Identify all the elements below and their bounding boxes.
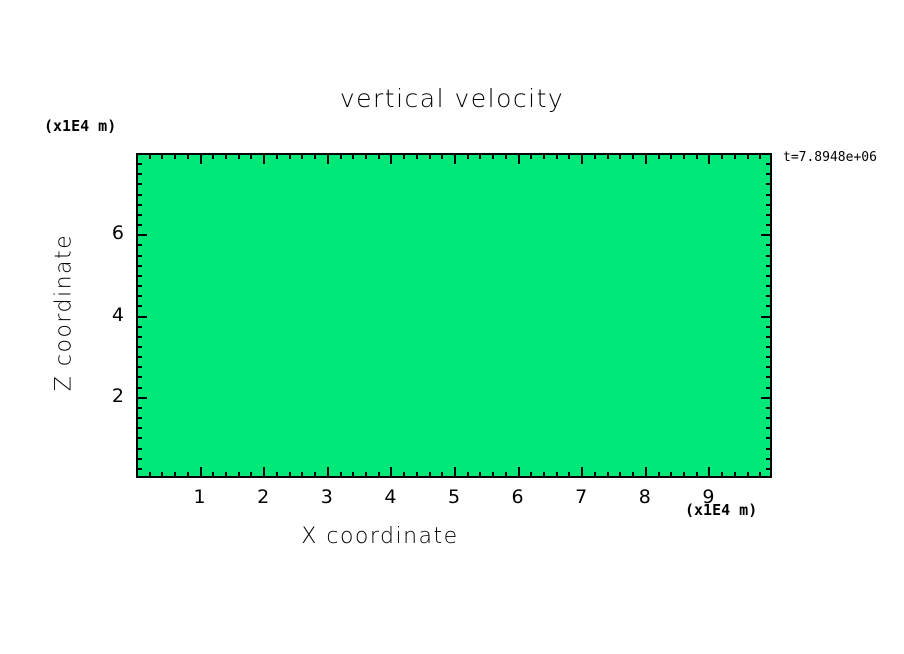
- x-tick-label: 7: [566, 486, 596, 508]
- x-tick-minor: [352, 472, 354, 478]
- y-tick-minor-right: [766, 356, 772, 358]
- y-tick-minor-right: [766, 214, 772, 216]
- x-tick-minor: [174, 472, 176, 478]
- y-tick-minor-right: [766, 163, 772, 165]
- x-tick-label: 1: [185, 486, 215, 508]
- y-tick-minor-right: [766, 295, 772, 297]
- x-tick-minor-top: [492, 153, 494, 159]
- x-tick-major-top: [263, 153, 265, 164]
- y-tick-minor: [136, 275, 142, 277]
- x-tick-minor-top: [238, 153, 240, 159]
- y-tick-minor-right: [766, 427, 772, 429]
- x-tick-major: [581, 467, 583, 478]
- x-tick-minor-top: [174, 153, 176, 159]
- x-tick-minor-top: [365, 153, 367, 159]
- y-tick-minor: [136, 265, 142, 267]
- x-tick-minor: [747, 472, 749, 478]
- y-tick-minor: [136, 305, 142, 307]
- x-axis-title: X coordinate: [0, 524, 760, 549]
- x-tick-minor: [734, 472, 736, 478]
- x-tick-minor: [149, 472, 151, 478]
- x-tick-minor-top: [441, 153, 443, 159]
- x-tick-minor: [467, 472, 469, 478]
- x-tick-minor-top: [149, 153, 151, 159]
- x-tick-minor: [696, 472, 698, 478]
- y-tick-major: [136, 234, 147, 236]
- x-tick-minor-top: [314, 153, 316, 159]
- y-tick-minor-right: [766, 173, 772, 175]
- y-axis-title: Z coordinate: [52, 213, 77, 413]
- x-tick-minor-top: [340, 153, 342, 159]
- x-tick-minor-top: [276, 153, 278, 159]
- y-tick-minor: [136, 427, 142, 429]
- x-tick-minor: [543, 472, 545, 478]
- x-tick-minor-top: [759, 153, 761, 159]
- y-tick-minor-right: [766, 244, 772, 246]
- y-tick-minor: [136, 244, 142, 246]
- x-tick-label: 2: [248, 486, 278, 508]
- x-tick-minor: [479, 472, 481, 478]
- x-tick-minor-top: [289, 153, 291, 159]
- y-tick-minor: [136, 366, 142, 368]
- x-tick-label: 5: [439, 486, 469, 508]
- x-tick-minor: [505, 472, 507, 478]
- x-tick-minor: [403, 472, 405, 478]
- x-tick-minor-top: [403, 153, 405, 159]
- x-tick-minor: [492, 472, 494, 478]
- x-tick-minor: [416, 472, 418, 478]
- x-tick-minor-top: [212, 153, 214, 159]
- y-tick-minor-right: [766, 204, 772, 206]
- x-tick-minor-top: [161, 153, 163, 159]
- y-tick-minor: [136, 285, 142, 287]
- x-tick-minor: [683, 472, 685, 478]
- x-tick-major-top: [327, 153, 329, 164]
- x-tick-minor: [212, 472, 214, 478]
- x-tick-minor: [441, 472, 443, 478]
- x-tick-minor: [632, 472, 634, 478]
- y-tick-minor-right: [766, 417, 772, 419]
- y-tick-minor: [136, 255, 142, 257]
- x-tick-minor-top: [658, 153, 660, 159]
- x-tick-minor: [568, 472, 570, 478]
- x-tick-minor-top: [683, 153, 685, 159]
- x-tick-minor-top: [594, 153, 596, 159]
- y-tick-minor-right: [766, 224, 772, 226]
- x-tick-minor: [238, 472, 240, 478]
- y-tick-minor: [136, 173, 142, 175]
- x-tick-major: [518, 467, 520, 478]
- y-tick-minor-right: [766, 387, 772, 389]
- y-tick-minor: [136, 417, 142, 419]
- y-tick-minor-right: [766, 285, 772, 287]
- y-tick-minor-right: [766, 407, 772, 409]
- x-tick-minor: [530, 472, 532, 478]
- x-tick-label: 4: [375, 486, 405, 508]
- x-tick-major: [200, 467, 202, 478]
- x-tick-major: [454, 467, 456, 478]
- x-tick-minor: [670, 472, 672, 478]
- y-tick-minor-right: [766, 255, 772, 257]
- y-tick-minor: [136, 407, 142, 409]
- y-tick-major-right: [761, 234, 772, 236]
- y-tick-label: 4: [94, 304, 124, 326]
- x-tick-major: [263, 467, 265, 478]
- y-tick-major-right: [761, 397, 772, 399]
- x-tick-major: [390, 467, 392, 478]
- y-tick-minor: [136, 204, 142, 206]
- y-tick-minor: [136, 468, 142, 470]
- y-tick-label: 6: [94, 222, 124, 244]
- y-tick-minor: [136, 437, 142, 439]
- x-tick-minor-top: [416, 153, 418, 159]
- x-tick-minor-top: [607, 153, 609, 159]
- x-tick-minor: [556, 472, 558, 478]
- y-tick-minor-right: [766, 366, 772, 368]
- x-tick-minor: [365, 472, 367, 478]
- x-tick-minor-top: [479, 153, 481, 159]
- y-tick-minor: [136, 214, 142, 216]
- x-tick-minor: [225, 472, 227, 478]
- y-tick-minor: [136, 336, 142, 338]
- y-tick-minor: [136, 346, 142, 348]
- x-tick-minor: [429, 472, 431, 478]
- x-tick-label: 9: [693, 486, 723, 508]
- x-tick-major: [645, 467, 647, 478]
- x-tick-major-top: [708, 153, 710, 164]
- x-tick-minor: [301, 472, 303, 478]
- x-tick-minor: [607, 472, 609, 478]
- y-tick-minor: [136, 448, 142, 450]
- y-tick-minor-right: [766, 376, 772, 378]
- y-tick-minor: [136, 224, 142, 226]
- y-tick-minor-right: [766, 346, 772, 348]
- y-tick-minor: [136, 194, 142, 196]
- x-tick-major: [327, 467, 329, 478]
- x-tick-minor: [594, 472, 596, 478]
- x-tick-minor: [759, 472, 761, 478]
- x-tick-minor: [289, 472, 291, 478]
- y-tick-minor-right: [766, 183, 772, 185]
- y-tick-minor-right: [766, 336, 772, 338]
- x-tick-minor-top: [747, 153, 749, 159]
- y-tick-major-right: [761, 316, 772, 318]
- x-tick-minor-top: [543, 153, 545, 159]
- x-tick-minor-top: [225, 153, 227, 159]
- x-tick-minor: [187, 472, 189, 478]
- x-tick-minor-top: [505, 153, 507, 159]
- y-tick-minor: [136, 387, 142, 389]
- y-tick-label: 2: [94, 385, 124, 407]
- y-tick-minor: [136, 356, 142, 358]
- colorbar: [775, 188, 821, 508]
- x-tick-minor-top: [301, 153, 303, 159]
- x-tick-major-top: [518, 153, 520, 164]
- x-tick-minor-top: [556, 153, 558, 159]
- x-tick-minor-top: [530, 153, 532, 159]
- figure-root: vertical velocity (x1E4 m) (x1E4 m) t=7.…: [0, 0, 904, 654]
- y-tick-minor-right: [766, 468, 772, 470]
- y-tick-minor-right: [766, 448, 772, 450]
- x-tick-minor-top: [378, 153, 380, 159]
- y-tick-minor: [136, 326, 142, 328]
- x-tick-label: 6: [503, 486, 533, 508]
- x-tick-minor: [276, 472, 278, 478]
- x-tick-major-top: [390, 153, 392, 164]
- contour-field-canvas: [138, 155, 772, 478]
- x-tick-minor-top: [568, 153, 570, 159]
- y-tick-minor-right: [766, 194, 772, 196]
- y-tick-minor: [136, 163, 142, 165]
- x-tick-minor: [314, 472, 316, 478]
- x-tick-major-top: [645, 153, 647, 164]
- x-tick-minor-top: [187, 153, 189, 159]
- x-tick-minor: [340, 472, 342, 478]
- y-tick-minor-right: [766, 305, 772, 307]
- timestamp-annotation: t=7.8948e+06: [783, 150, 877, 165]
- x-tick-minor-top: [632, 153, 634, 159]
- x-tick-minor: [250, 472, 252, 478]
- y-tick-minor: [136, 376, 142, 378]
- y-tick-minor-right: [766, 437, 772, 439]
- x-tick-minor-top: [352, 153, 354, 159]
- colorbar-gradient: [775, 188, 821, 508]
- y-tick-minor-right: [766, 265, 772, 267]
- y-axis-unit-label: (x1E4 m): [44, 117, 116, 135]
- x-tick-major-top: [454, 153, 456, 164]
- x-tick-label: 3: [312, 486, 342, 508]
- x-tick-minor-top: [467, 153, 469, 159]
- x-tick-minor-top: [250, 153, 252, 159]
- contour-plot-area: [136, 153, 772, 478]
- x-tick-minor: [721, 472, 723, 478]
- x-tick-minor-top: [734, 153, 736, 159]
- y-tick-minor-right: [766, 326, 772, 328]
- y-tick-minor-right: [766, 275, 772, 277]
- x-tick-minor-top: [696, 153, 698, 159]
- y-tick-minor: [136, 295, 142, 297]
- x-tick-minor: [619, 472, 621, 478]
- x-tick-minor-top: [670, 153, 672, 159]
- x-tick-minor: [378, 472, 380, 478]
- x-tick-major: [708, 467, 710, 478]
- x-tick-minor-top: [429, 153, 431, 159]
- x-tick-major-top: [581, 153, 583, 164]
- y-tick-minor: [136, 183, 142, 185]
- x-tick-label: 8: [630, 486, 660, 508]
- chart-title: vertical velocity: [0, 84, 904, 113]
- y-tick-minor: [136, 458, 142, 460]
- x-tick-major-top: [200, 153, 202, 164]
- x-tick-minor: [658, 472, 660, 478]
- y-tick-major: [136, 316, 147, 318]
- y-tick-major: [136, 397, 147, 399]
- x-tick-minor-top: [619, 153, 621, 159]
- y-tick-minor-right: [766, 458, 772, 460]
- x-tick-minor: [161, 472, 163, 478]
- x-tick-minor-top: [721, 153, 723, 159]
